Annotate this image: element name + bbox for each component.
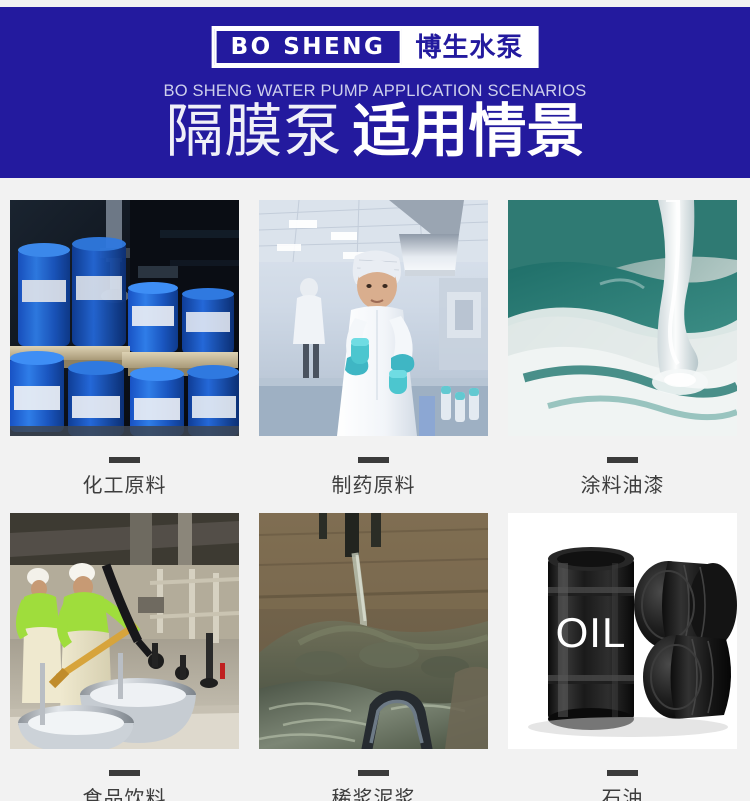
logo-latin-box: BO SHENG (215, 29, 402, 65)
scenario-grid: 化工原料 (10, 200, 739, 801)
card-divider (109, 770, 140, 776)
page-root: BO SHENG 博生水泵 BO SHENG WATER PUMP APPLIC… (0, 0, 750, 801)
scenario-card[interactable]: 食品饮料 (10, 513, 239, 801)
card-divider (358, 457, 389, 463)
teal-paint-swirl-photo (508, 200, 737, 436)
scenario-card-label: 稀浆泥浆 (332, 786, 416, 801)
scenario-card[interactable]: 化工原料 (10, 200, 239, 497)
scenario-card[interactable]: 制药原料 (259, 200, 488, 497)
logo-chinese-box: 博生水泵 (401, 29, 535, 65)
grid-row-spacer (10, 497, 739, 513)
banner-title: 隔膜泵适用情景 (0, 103, 750, 161)
slurry-mud-pit-photo (259, 513, 488, 749)
card-divider (109, 457, 140, 463)
brand-logo: BO SHENG 博生水泵 (212, 26, 539, 68)
scenario-card-label: 食品饮料 (83, 786, 167, 801)
food-processing-workers-vats-photo (10, 513, 239, 749)
banner-title-thin: 隔膜泵 (165, 99, 342, 164)
logo-chinese-text: 博生水泵 (415, 34, 523, 60)
pharmaceutical-lab-worker-photo (259, 200, 488, 436)
scenario-card[interactable]: 稀浆泥浆 (259, 513, 488, 801)
scenario-card[interactable]: OIL 石油 (508, 513, 737, 801)
scenario-card-label: 涂料油漆 (581, 473, 665, 497)
black-oil-drums-photo: OIL (508, 513, 737, 749)
card-divider (607, 770, 638, 776)
banner-title-bold: 适用情景 (353, 99, 585, 164)
hero-banner: BO SHENG 博生水泵 BO SHENG WATER PUMP APPLIC… (0, 7, 750, 178)
scenario-card-label: 石油 (602, 786, 644, 801)
card-divider (358, 770, 389, 776)
logo-latin-text: BO SHENG (231, 36, 386, 59)
oil-drum-text: OIL (556, 609, 627, 656)
scenario-card-label: 化工原料 (83, 473, 167, 497)
card-divider (607, 457, 638, 463)
blue-chemical-drums-warehouse-photo (10, 200, 239, 436)
scenario-card-label: 制药原料 (332, 473, 416, 497)
scenario-card[interactable]: 涂料油漆 (508, 200, 737, 497)
